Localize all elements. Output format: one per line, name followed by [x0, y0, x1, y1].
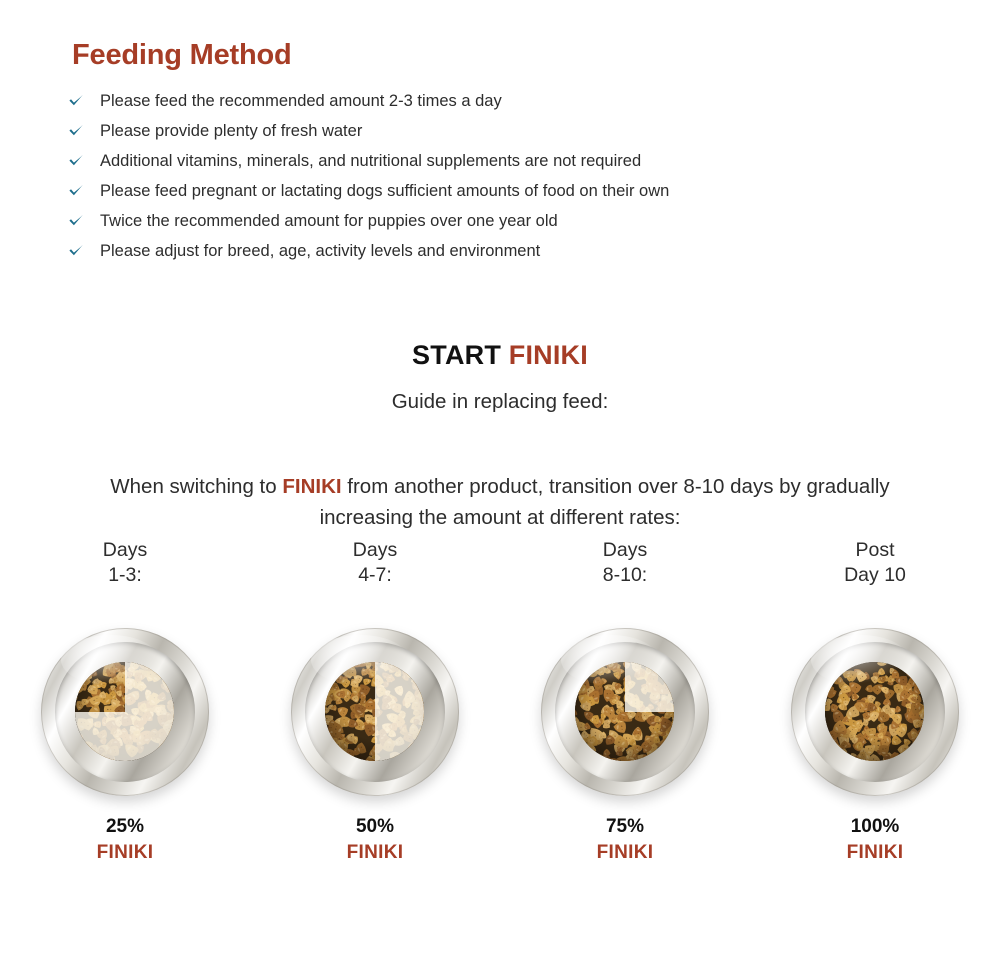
list-item: Additional vitamins, minerals, and nutri… — [68, 146, 928, 176]
step-brand-label: FINIKI — [347, 840, 404, 866]
step-percent-label: 50% — [356, 814, 394, 840]
step-day-label: Days 8-10: — [603, 538, 647, 588]
transition-step: Post Day 10100%FINIKI — [750, 538, 1000, 866]
bowl-food-well — [325, 662, 424, 761]
list-item: Please adjust for breed, age, activity l… — [68, 236, 928, 266]
step-percent-label: 100% — [851, 814, 900, 840]
list-item: Please feed pregnant or lactating dogs s… — [68, 176, 928, 206]
list-item: Twice the recommended amount for puppies… — [68, 206, 928, 236]
kibble-texture — [75, 662, 174, 761]
step-day-label: Days 4-7: — [353, 538, 397, 588]
list-item: Please provide plenty of fresh water — [68, 116, 928, 146]
bowl-food-well — [75, 662, 174, 761]
guide-subtitle: Guide in replacing feed: — [0, 390, 1000, 414]
list-item-label: Please provide plenty of fresh water — [100, 122, 362, 140]
kibble-texture — [325, 662, 424, 761]
bowl-outer-rim — [291, 628, 459, 796]
list-item-label: Twice the recommended amount for puppies… — [100, 212, 558, 230]
bowl-outer-rim — [791, 628, 959, 796]
check-icon — [68, 213, 84, 229]
food-bowl — [291, 628, 459, 796]
check-icon — [68, 183, 84, 199]
page-title: Feeding Method — [72, 39, 292, 72]
list-item-label: Additional vitamins, minerals, and nutri… — [100, 152, 641, 170]
transition-brand: FINIKI — [282, 475, 341, 498]
bowl-inner-rim — [805, 642, 944, 781]
transition-steps-row: Days 1-3:25%FINIKIDays 4-7:50%FINIKIDays… — [0, 538, 1000, 866]
step-brand-label: FINIKI — [597, 840, 654, 866]
step-brand-label: FINIKI — [97, 840, 154, 866]
step-day-label: Days 1-3: — [103, 538, 147, 588]
bowl-inner-rim — [305, 642, 444, 781]
transition-step: Days 1-3:25%FINIKI — [0, 538, 250, 866]
transition-step: Days 4-7:50%FINIKI — [250, 538, 500, 866]
bowl-food-well — [825, 662, 924, 761]
transition-paragraph: When switching to FINIKI from another pr… — [110, 471, 890, 533]
transition-step: Days 8-10:75%FINIKI — [500, 538, 750, 866]
feeding-method-page: Feeding Method Please feed the recommend… — [0, 0, 1000, 954]
step-percent-label: 75% — [606, 814, 644, 840]
check-icon — [68, 123, 84, 139]
food-bowl — [41, 628, 209, 796]
start-heading-prefix: START — [412, 340, 509, 370]
list-item-label: Please feed pregnant or lactating dogs s… — [100, 182, 669, 200]
list-item-label: Please adjust for breed, age, activity l… — [100, 242, 540, 260]
start-heading: START FINIKI — [0, 340, 1000, 371]
food-bowl — [791, 628, 959, 796]
feeding-tips-list: Please feed the recommended amount 2-3 t… — [68, 86, 928, 266]
bowl-inner-rim — [555, 642, 694, 781]
bowl-inner-rim — [55, 642, 194, 781]
kibble-texture — [825, 662, 924, 761]
list-item-label: Please feed the recommended amount 2-3 t… — [100, 92, 502, 110]
bowl-outer-rim — [541, 628, 709, 796]
transition-text-part2: from another product, transition over 8-… — [320, 475, 890, 529]
bowl-outer-rim — [41, 628, 209, 796]
check-icon — [68, 93, 84, 109]
start-heading-brand: FINIKI — [509, 340, 588, 370]
list-item: Please feed the recommended amount 2-3 t… — [68, 86, 928, 116]
check-icon — [68, 243, 84, 259]
transition-text-part1: When switching to — [110, 475, 282, 498]
kibble-texture — [575, 662, 674, 761]
check-icon — [68, 153, 84, 169]
step-day-label: Post Day 10 — [844, 538, 906, 588]
bowl-food-well — [575, 662, 674, 761]
food-bowl — [541, 628, 709, 796]
step-brand-label: FINIKI — [847, 840, 904, 866]
step-percent-label: 25% — [106, 814, 144, 840]
